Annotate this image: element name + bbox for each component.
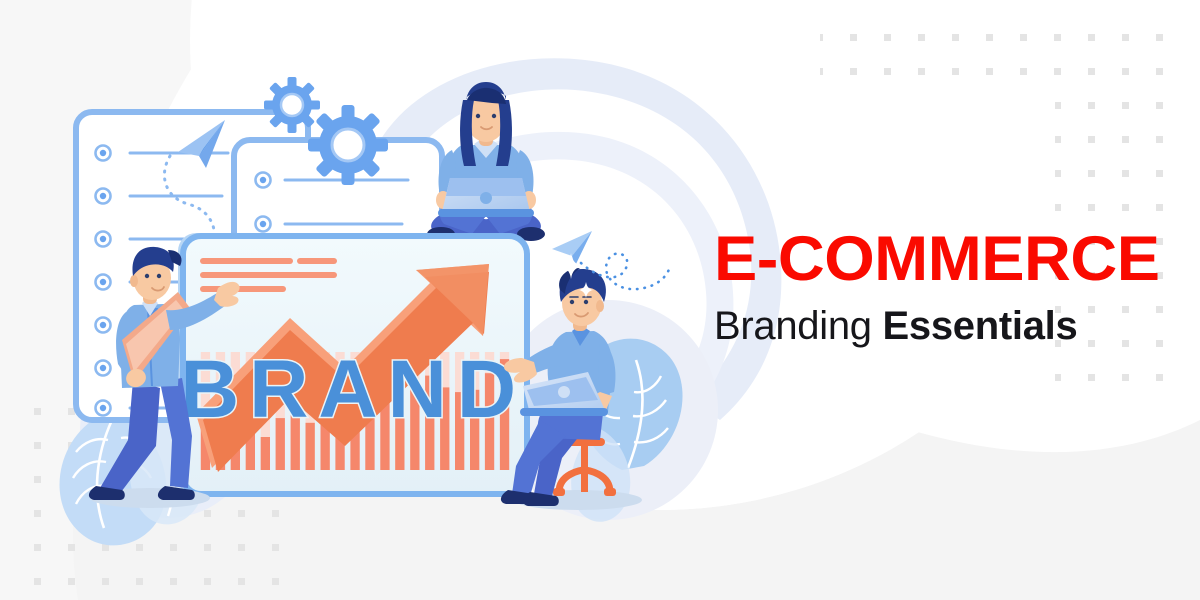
page-title: E-COMMERCE [714, 228, 1147, 290]
subtitle-light: Branding [714, 304, 883, 348]
page-subtitle: Branding Essentials [714, 304, 1134, 348]
ecommerce-banner: BRAND [0, 0, 1200, 600]
headline-block: E-COMMERCE Branding Essentials [714, 228, 1134, 348]
gear-icon-large [308, 105, 388, 185]
brand-word: BRAND [180, 344, 526, 435]
svg-text:BRAND: BRAND [180, 344, 526, 435]
bar [261, 437, 270, 470]
subtitle-bold: Essentials [883, 304, 1078, 348]
gear-icon-small [264, 77, 320, 133]
person-woman-on-laptop [427, 82, 545, 241]
